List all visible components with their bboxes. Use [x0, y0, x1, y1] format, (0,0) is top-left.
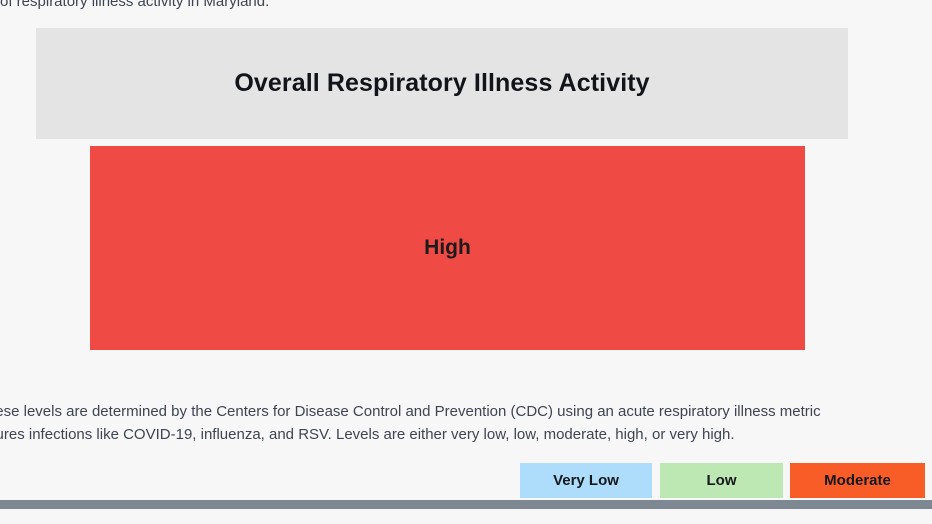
intro-text: of respiratory illness activity in Maryl…	[0, 0, 932, 13]
legend-chip-moderate-label: Moderate	[824, 472, 891, 489]
activity-level-label: High	[424, 236, 471, 260]
activity-level-legend: Very Low Low Moderate	[0, 463, 932, 499]
legend-chip-very-low-label: Very Low	[553, 472, 619, 489]
legend-chip-moderate[interactable]: Moderate	[790, 463, 925, 498]
footnote-line-2: that captures infections like COVID-19, …	[0, 423, 932, 446]
respiratory-activity-card: Overall Respiratory Illness Activity Hig…	[0, 14, 932, 454]
activity-header-bar: Overall Respiratory Illness Activity	[36, 28, 848, 139]
footnote-line-1: Note: These levels are determined by the…	[0, 400, 932, 423]
horizontal-scroll-area	[0, 498, 932, 524]
footnote-clipped: Note: These levels are determined by the…	[0, 400, 932, 450]
legend-chip-low-label: Low	[707, 472, 737, 489]
horizontal-scrollbar-thumb[interactable]	[0, 500, 932, 509]
page-title: Overall Respiratory Illness Activity	[234, 69, 649, 98]
legend-chip-very-low[interactable]: Very Low	[520, 463, 652, 498]
activity-level-indicator: High	[90, 146, 805, 350]
intro-sentence-clipped: of respiratory illness activity in Maryl…	[0, 0, 932, 13]
legend-chip-low[interactable]: Low	[660, 463, 783, 498]
